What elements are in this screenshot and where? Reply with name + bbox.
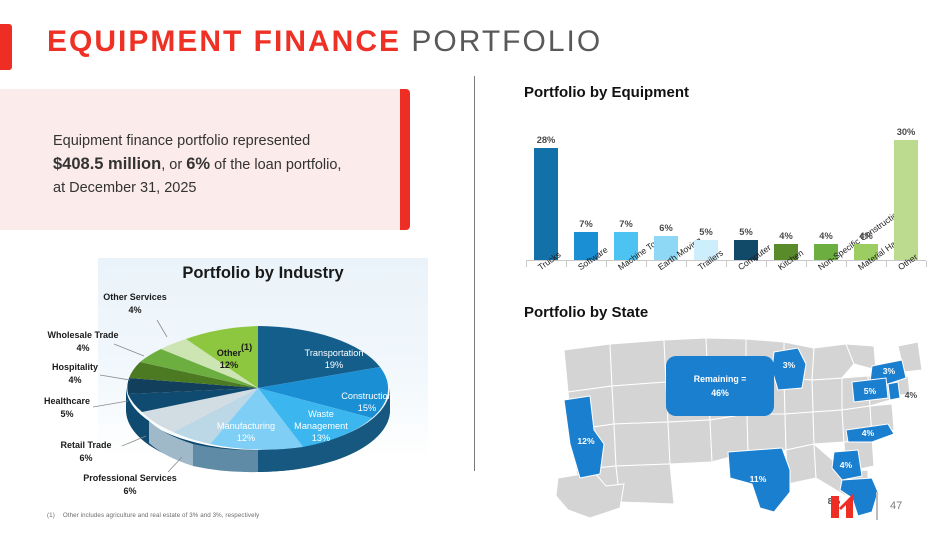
map-remaining-label: Remaining = [694, 374, 747, 384]
bar-value-label: 5% [726, 227, 766, 237]
map-value-minnesota: 3% [783, 360, 796, 370]
pie-other-footnote-marker: (1) [241, 342, 252, 352]
map-value-california: 12% [577, 436, 595, 446]
pie-label-hospitality: Hospitality [52, 362, 98, 372]
vertical-divider [474, 76, 475, 471]
pie-footnote: (1)Other includes agriculture and real e… [47, 512, 259, 519]
pie-value-other: 12% [220, 360, 238, 370]
bar-axis-tick [926, 261, 927, 267]
footnote-marker: (1) [47, 512, 55, 519]
callout-tail: of the loan portfolio, [210, 157, 341, 173]
bar-axis-tick [606, 261, 607, 267]
callout-percent: 6% [186, 155, 210, 173]
bar-axis-tick [726, 261, 727, 267]
bar-chart-panel: Portfolio by Equipment 28%Trucks7%Softwa… [500, 82, 940, 297]
callout-line-3: at December 31, 2025 [53, 180, 196, 196]
pie-chart-panel: Portfolio by Industry [18, 258, 458, 508]
page-title-red: EQUIPMENT FINANCE [47, 25, 401, 58]
callout-accent-bar [400, 89, 410, 230]
pie-value-transportation: 19% [325, 360, 343, 370]
pie-label-healthcare: Healthcare [44, 396, 90, 406]
pie-label-waste-1: Waste [308, 409, 334, 419]
bar-axis-tick [766, 261, 767, 267]
page-number: 47 [890, 500, 902, 512]
footer-divider [876, 492, 878, 520]
bar-value-label: 7% [606, 219, 646, 229]
map-value-new-york: 3% [883, 366, 896, 376]
bar-axis-tick [646, 261, 647, 267]
callout-amount: $408.5 million [53, 155, 161, 173]
bar-value-label: 7% [566, 219, 606, 229]
pie-value-hospitality: 4% [68, 375, 81, 385]
pie-value-manufacturing: 12% [237, 433, 255, 443]
bar-trucks[interactable] [534, 148, 558, 260]
footnote-text: Other includes agriculture and real esta… [63, 512, 259, 519]
pie-value-healthcare: 5% [60, 409, 73, 419]
pie-label-other: Other [217, 348, 242, 358]
callout-line-1: Equipment finance portfolio represented [53, 133, 310, 149]
pie-value-waste-management: 13% [312, 433, 330, 443]
map-remaining-badge: Remaining = 46% [666, 356, 774, 416]
pie-label-construction: Construction [341, 391, 393, 401]
bar-value-label: 4% [766, 231, 806, 241]
pie-value-construction: 15% [358, 403, 376, 413]
pie-label-transportation: Transportation [305, 348, 364, 358]
callout-mid: , or [161, 157, 186, 173]
bar-axis-tick [806, 261, 807, 267]
state-new-jersey [888, 382, 900, 400]
pie-value-retail-trade: 6% [79, 453, 92, 463]
map-value-texas: 11% [750, 474, 767, 484]
map-remaining-value: 46% [711, 388, 729, 398]
map-value-new-jersey: 4% [905, 390, 918, 400]
bar-value-label: 4% [846, 231, 886, 241]
bar-chart-title: Portfolio by Equipment [524, 84, 689, 101]
page-title: EQUIPMENT FINANCE PORTFOLIO [47, 25, 602, 59]
bar-other[interactable] [894, 140, 918, 260]
bar-chart-plot: 28%Trucks7%Software7%Machine Tools6%Eart… [510, 122, 935, 302]
pie-value-professional-services: 6% [123, 486, 136, 496]
callout-text: Equipment finance portfolio represented … [53, 130, 393, 200]
pie-label-manufacturing: Manufacturing [217, 421, 275, 431]
pie-label-wholesale-trade: Wholesale Trade [47, 330, 118, 340]
map-chart-title: Portfolio by State [524, 304, 648, 321]
page-title-gray: PORTFOLIO [411, 25, 602, 58]
pie-label-professional-services: Professional Services [83, 473, 177, 483]
bar-axis-tick [566, 261, 567, 267]
map-value-pennsylvania: 5% [864, 386, 877, 396]
pie-label-retail-trade: Retail Trade [60, 440, 111, 450]
pie-chart-svg: Transportation 19% Construction 15% Wast… [18, 258, 458, 508]
pie-slices [127, 326, 388, 450]
pie-label-other-services: Other Services [103, 292, 167, 302]
bar-axis-tick [526, 261, 527, 267]
header-accent-bar [0, 24, 12, 70]
bar-axis-tick [886, 261, 887, 267]
bar-axis-tick [846, 261, 847, 267]
pie-label-waste-2: Management [294, 421, 348, 431]
bar-value-label: 4% [806, 231, 846, 241]
map-value-north-carolina: 4% [862, 428, 875, 438]
company-logo-icon [829, 492, 863, 522]
pie-value-other-services: 4% [128, 305, 141, 315]
map-value-georgia: 4% [840, 460, 853, 470]
bar-value-label: 6% [646, 223, 686, 233]
bar-axis-tick [686, 261, 687, 267]
us-map-svg: 12% 11% 8% 5% 4% 4% 4% 3% 3% Remaining =… [546, 326, 926, 526]
pie-value-wholesale-trade: 4% [76, 343, 89, 353]
bar-value-label: 30% [886, 127, 926, 137]
bar-value-label: 28% [526, 135, 566, 145]
map-chart-panel: Portfolio by State [500, 298, 940, 534]
bar-value-label: 5% [686, 227, 726, 237]
